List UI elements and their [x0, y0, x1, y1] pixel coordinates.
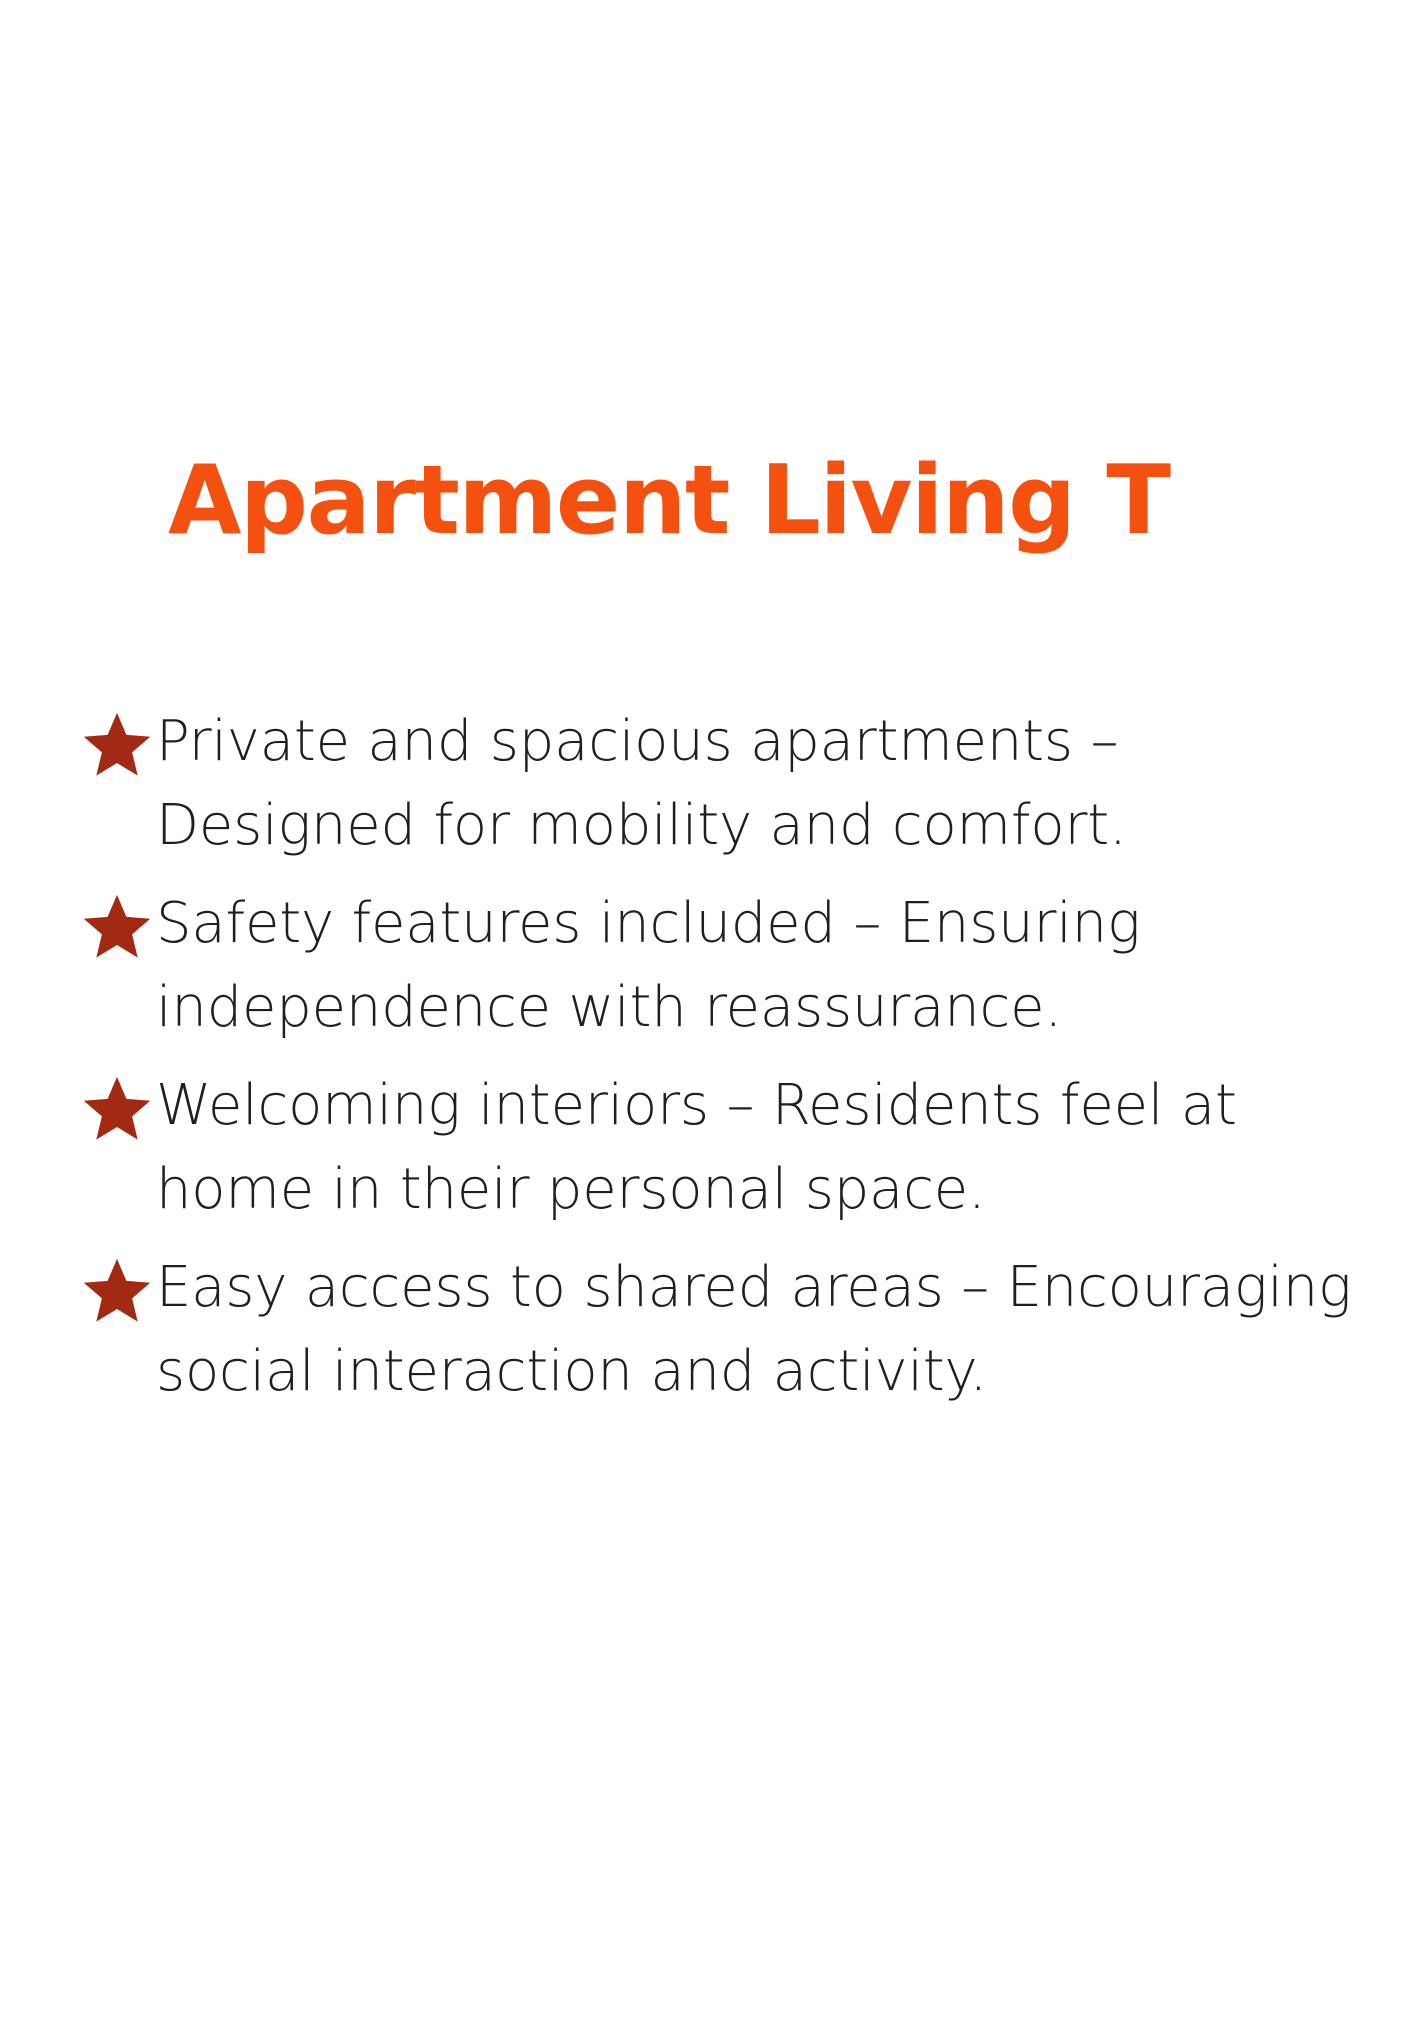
bullet-continuation-row: home in their personal space. [78, 1148, 1428, 1232]
bullet-text: Safety features included – Ensuring [156, 882, 1428, 966]
bullet-row: Easy access to shared areas – Encouragin… [78, 1246, 1428, 1330]
bullet-continuation-row: social interaction and activity. [78, 1330, 1428, 1414]
star-icon [78, 890, 156, 964]
title-block: Apartment Living T [168, 390, 1428, 612]
bullet-row: Private and spacious apartments – [78, 700, 1428, 784]
bullet-line-primary: Easy access to shared areas – Encouragin… [156, 1246, 1428, 1330]
bullet-line-primary: Welcoming interiors – Residents feel at [156, 1064, 1428, 1148]
star-icon [78, 708, 156, 782]
list-item: Easy access to shared areas – Encouragin… [78, 1246, 1428, 1414]
bullet-continuation-row: independence with reassurance. [78, 966, 1428, 1050]
bullet-text: Private and spacious apartments – [156, 700, 1428, 784]
bullet-row: Welcoming interiors – Residents feel at [78, 1064, 1428, 1148]
bullet-indent-spacer [78, 784, 156, 868]
star-icon [78, 1254, 156, 1328]
list-item: Welcoming interiors – Residents feel at … [78, 1064, 1428, 1232]
bullet-line-primary: Private and spacious apartments – [156, 700, 1428, 784]
bullet-row: Safety features included – Ensuring [78, 882, 1428, 966]
list-item: Private and spacious apartments – Design… [78, 700, 1428, 868]
bullet-indent-spacer [78, 1330, 156, 1414]
presentation-slide: Apartment Living T Private and spacious … [0, 0, 1428, 2018]
bullet-line-secondary: home in their personal space. [156, 1148, 986, 1232]
bullet-continuation-row: Designed for mobility and comfort. [78, 784, 1428, 868]
bullet-text: Easy access to shared areas – Encouragin… [156, 1246, 1428, 1330]
bullet-indent-spacer [78, 966, 156, 1050]
list-item: Safety features included – Ensuring inde… [78, 882, 1428, 1050]
bullet-line-secondary: social interaction and activity. [156, 1330, 987, 1414]
star-icon [78, 1072, 156, 1146]
page-title: Apartment Living T [168, 454, 1428, 549]
bullet-indent-spacer [78, 1148, 156, 1232]
bullet-text: Welcoming interiors – Residents feel at [156, 1064, 1428, 1148]
bullet-line-secondary: independence with reassurance. [156, 966, 1062, 1050]
bullet-line-primary: Safety features included – Ensuring [156, 882, 1428, 966]
bullet-list: Private and spacious apartments – Design… [78, 700, 1428, 1428]
bullet-line-secondary: Designed for mobility and comfort. [156, 784, 1127, 868]
